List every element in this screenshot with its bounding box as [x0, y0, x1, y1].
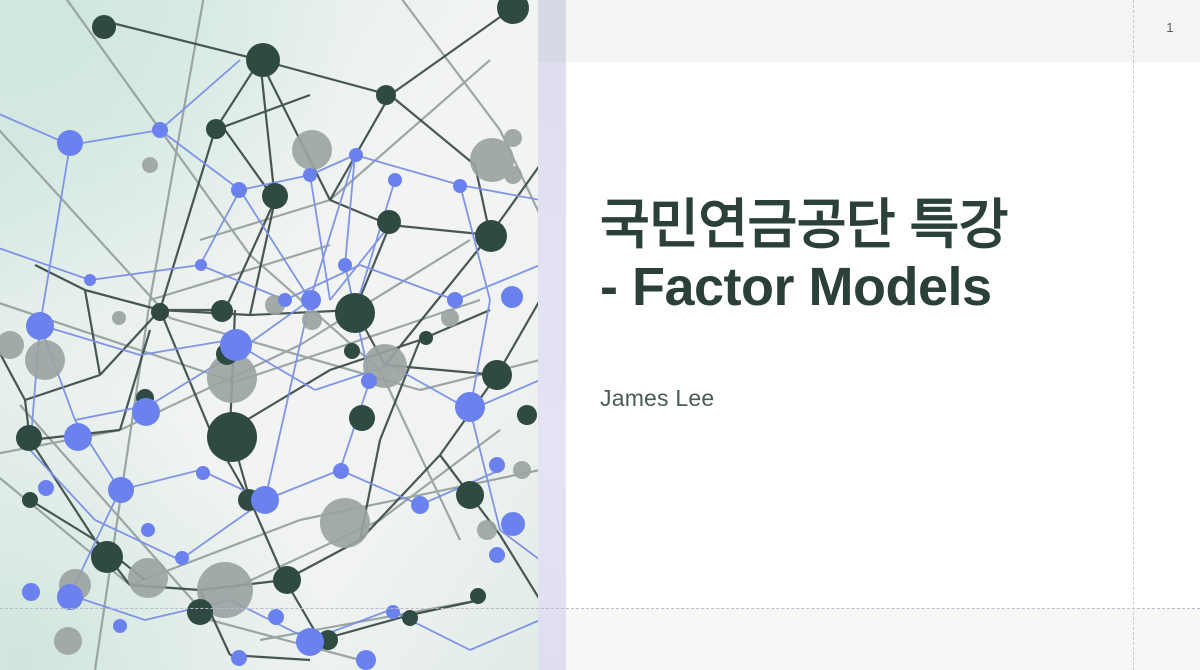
slide-content-area	[566, 0, 1200, 670]
slide-canvas: 1	[0, 0, 1200, 670]
horizontal-guide-line	[0, 608, 1200, 609]
page-title: 국민연금공단 특강 - Factor Models	[600, 195, 1120, 318]
slide-header-band	[566, 0, 1200, 62]
edge-group-dark	[0, 10, 540, 660]
network-graph-image	[0, 0, 540, 670]
subtitle-author: James Lee	[600, 385, 714, 412]
edge-group-gray	[0, 0, 540, 670]
title-block: 국민연금공단 특강 - Factor Models	[600, 195, 1120, 318]
separator-band	[538, 0, 566, 670]
vertical-guide-line	[1133, 0, 1134, 670]
separator-band-top	[538, 0, 566, 62]
node-group-gray	[0, 129, 531, 655]
page-number: 1	[1150, 20, 1190, 35]
slide-footer-band	[566, 609, 1200, 670]
